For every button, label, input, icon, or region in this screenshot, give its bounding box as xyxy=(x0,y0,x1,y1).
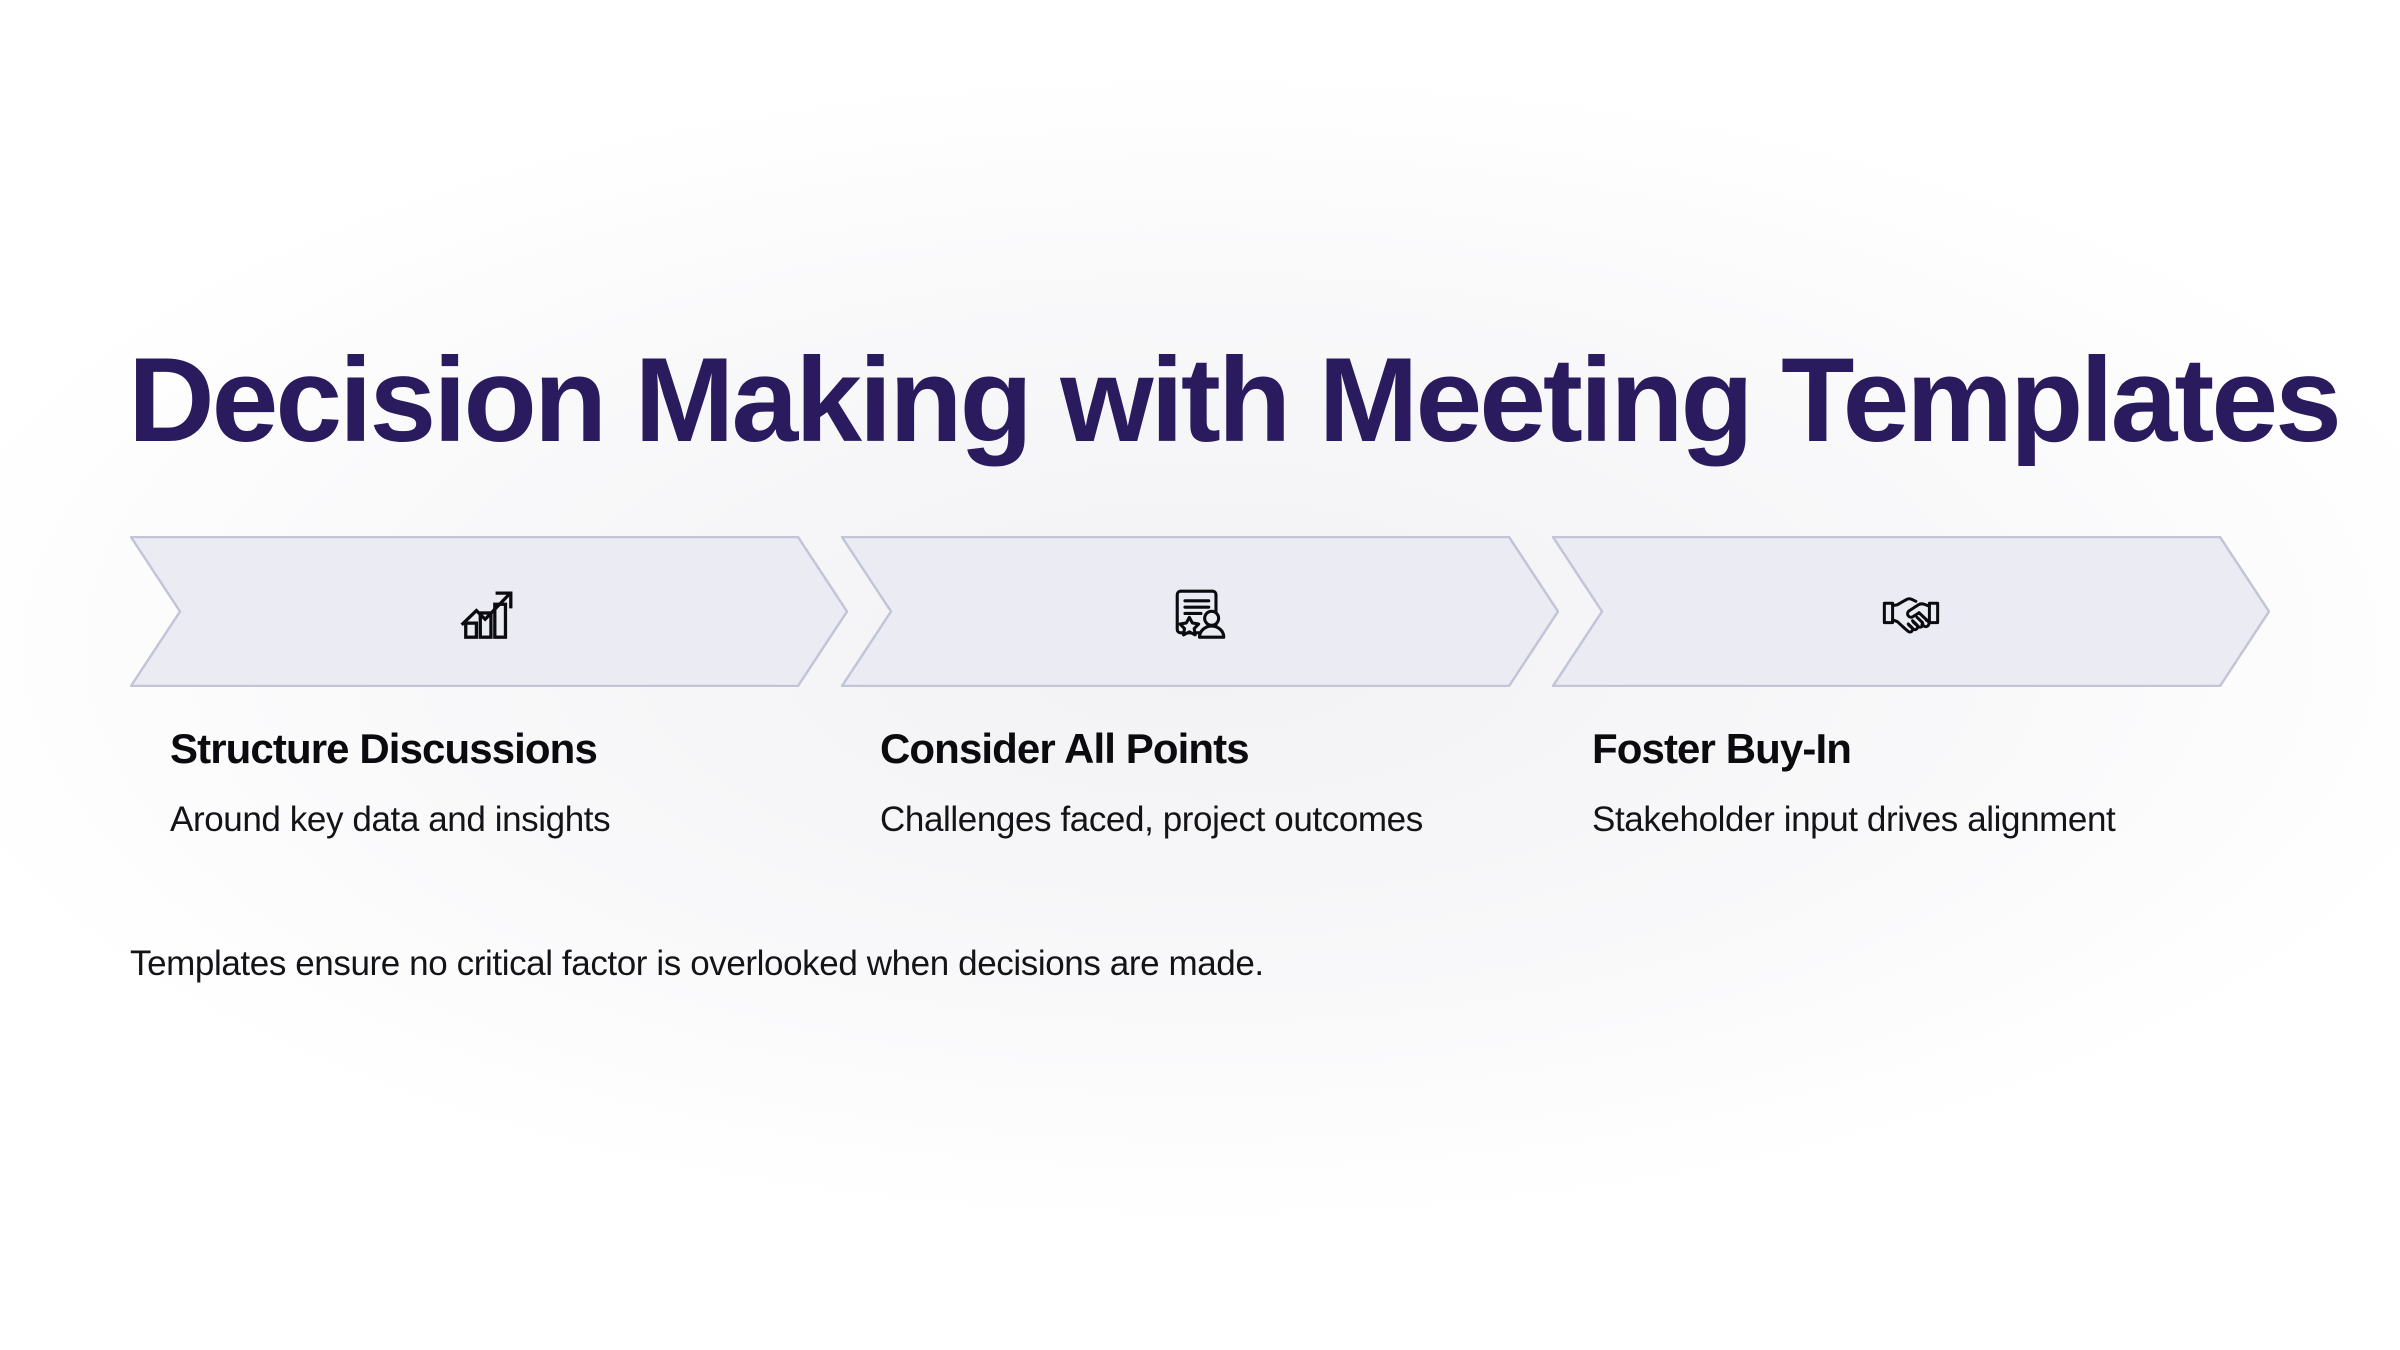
document-star-person-icon xyxy=(1169,581,1231,643)
step-subtext-2: Challenges faced, project outcomes xyxy=(880,802,1423,837)
handshake-icon xyxy=(1880,581,1942,643)
footer-note: Templates ensure no critical factor is o… xyxy=(130,946,1264,981)
step-text-2: Consider All Points Challenges faced, pr… xyxy=(880,728,1423,837)
step-text-1: Structure Discussions Around key data an… xyxy=(170,728,610,837)
process-chevron-band xyxy=(130,536,2270,687)
step-heading-1: Structure Discussions xyxy=(170,728,610,770)
chevron-step-3[interactable] xyxy=(1552,536,2270,687)
step-subtext-1: Around key data and insights xyxy=(170,802,610,837)
slide-canvas: Decision Making with Meeting Templates xyxy=(0,0,2400,1350)
step-text-columns: Structure Discussions Around key data an… xyxy=(0,728,2400,868)
step-subtext-3: Stakeholder input drives alignment xyxy=(1592,802,2115,837)
step-heading-2: Consider All Points xyxy=(880,728,1423,770)
chevron-step-2[interactable] xyxy=(841,536,1559,687)
step-heading-3: Foster Buy-In xyxy=(1592,728,2115,770)
growth-chart-icon xyxy=(458,581,520,643)
step-text-3: Foster Buy-In Stakeholder input drives a… xyxy=(1592,728,2115,837)
chevron-step-1[interactable] xyxy=(130,536,848,687)
page-title: Decision Making with Meeting Templates xyxy=(128,340,2339,460)
